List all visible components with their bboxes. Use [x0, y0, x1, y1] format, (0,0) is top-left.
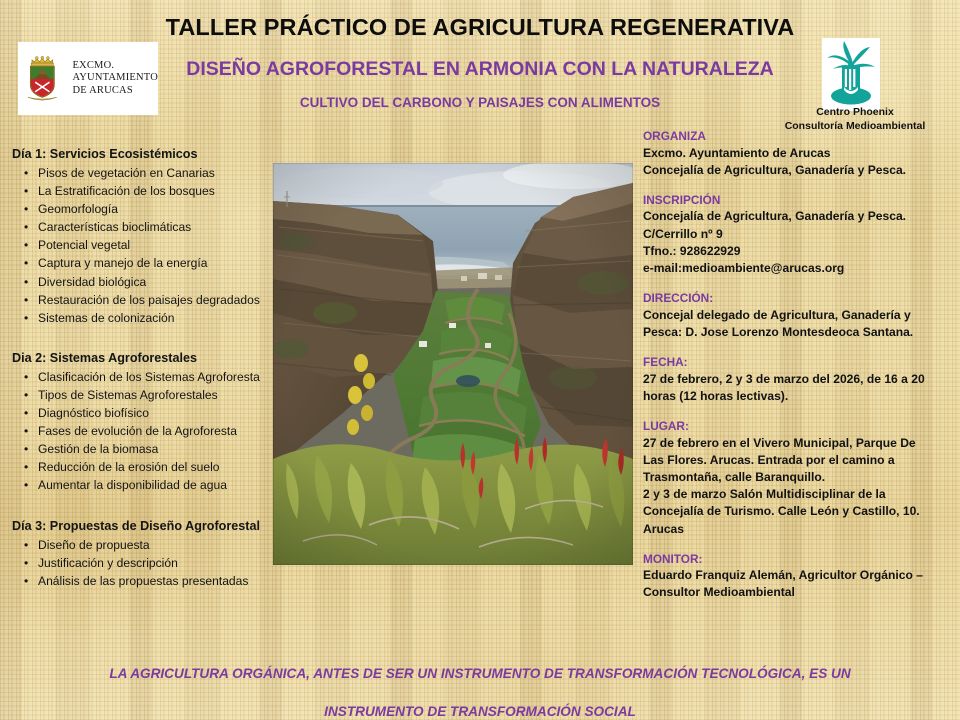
- info-line: Concejalía de Agricultura, Ganadería y P…: [643, 208, 955, 225]
- coat-of-arms-icon: [24, 48, 65, 110]
- topic-label: Justificación y descripción: [38, 556, 178, 570]
- topic-label: Características bioclimáticas: [38, 220, 191, 234]
- slogan-line-1: LA AGRICULTURA ORGÁNICA, ANTES DE SER UN…: [0, 655, 960, 693]
- info-line: Concejalía de Turismo. Calle León y Cast…: [643, 503, 955, 520]
- day-2-heading: Dia 2: Sistemas Agroforestales: [12, 350, 290, 366]
- barranco-photo-illustration: [273, 163, 633, 565]
- syllabus-day-3: Día 3: Propuestas de Diseño Agroforestal…: [12, 518, 290, 590]
- info-line: Concejal delegado de Agricultura, Ganade…: [643, 307, 955, 324]
- day-3-heading: Día 3: Propuestas de Diseño Agroforestal: [12, 518, 290, 534]
- list-item: •Sistemas de colonización: [12, 309, 290, 327]
- slogan-line-2: INSTRUMENTO DE TRANSFORMACIÓN SOCIAL: [0, 693, 960, 720]
- bullet-icon: •: [24, 404, 28, 422]
- topic-label: Gestión de la biomasa: [38, 442, 158, 456]
- topic-label: Sistemas de colonización: [38, 311, 174, 325]
- info-line: Consultor Medioambiental: [643, 584, 955, 601]
- info-label: DIRECCIÓN:: [643, 290, 955, 307]
- topic-label: Restauración de los paisajes degradados: [38, 293, 260, 307]
- crest-logo-text: EXCMO. AYUNTAMIENTO DE ARUCAS: [72, 60, 158, 97]
- topic-label: Análisis de las propuestas presentadas: [38, 574, 248, 588]
- bullet-icon: •: [24, 273, 28, 291]
- info-label: FECHA:: [643, 354, 955, 371]
- list-item: •Fases de evolución de la Agroforesta: [12, 422, 290, 440]
- syllabus-gap: [12, 495, 290, 518]
- bullet-icon: •: [24, 422, 28, 440]
- info-section-organiza: ORGANIZA Excmo. Ayuntamiento de Arucas C…: [643, 128, 955, 179]
- info-line: 27 de febrero, 2 y 3 de marzo del 2026, …: [643, 371, 955, 388]
- info-label: LUGAR:: [643, 418, 955, 435]
- bullet-icon: •: [24, 536, 28, 554]
- bullet-icon: •: [24, 254, 28, 272]
- info-line: Trasmontaña, calle Baranquillo.: [643, 469, 955, 486]
- syllabus-column: Día 1: Servicios Ecosistémicos •Pisos de…: [12, 146, 290, 590]
- bullet-icon: •: [24, 291, 28, 309]
- list-item: •Análisis de las propuestas presentadas: [12, 572, 290, 590]
- list-item: •Clasificación de los Sistemas Agrofores…: [12, 368, 290, 386]
- bullet-icon: •: [24, 200, 28, 218]
- topic-label: Potencial vegetal: [38, 238, 130, 252]
- info-line: Pesca: D. Jose Lorenzo Montesdeoca Santa…: [643, 324, 955, 341]
- topic-label: Pisos de vegetación en Canarias: [38, 166, 215, 180]
- topic-label: Tipos de Sistemas Agroforestales: [38, 388, 218, 402]
- bullet-icon: •: [24, 164, 28, 182]
- info-email[interactable]: e-mail:medioambiente@arucas.org: [643, 260, 955, 277]
- list-item: •Diagnóstico biofísico: [12, 404, 290, 422]
- info-section-lugar: LUGAR: 27 de febrero en el Vivero Munici…: [643, 418, 955, 538]
- info-label: INSCRIPCIÓN: [643, 192, 955, 209]
- bullet-icon: •: [24, 182, 28, 200]
- info-label: ORGANIZA: [643, 128, 955, 145]
- topic-label: Diseño de propuesta: [38, 538, 150, 552]
- phoenix-logo-box: [822, 38, 880, 111]
- bullet-icon: •: [24, 368, 28, 386]
- bullet-icon: •: [24, 476, 28, 494]
- topic-label: Fases de evolución de la Agroforesta: [38, 424, 237, 438]
- list-item: •Tipos de Sistemas Agroforestales: [12, 386, 290, 404]
- info-line: Arucas: [643, 521, 955, 538]
- info-line: 2 y 3 de marzo Salón Multidisciplinar de…: [643, 486, 955, 503]
- topic-label: Clasificación de los Sistemas Agroforest…: [38, 370, 260, 384]
- info-label: MONITOR:: [643, 551, 955, 568]
- info-section-monitor: MONITOR: Eduardo Franquiz Alemán, Agricu…: [643, 551, 955, 602]
- list-item: •Gestión de la biomasa: [12, 440, 290, 458]
- syllabus-day-1: Día 1: Servicios Ecosistémicos •Pisos de…: [12, 146, 290, 327]
- topic-label: Reducción de la erosión del suelo: [38, 460, 220, 474]
- info-line: Las Flores. Arucas. Entrada por el camin…: [643, 452, 955, 469]
- poster-canvas: TALLER PRÁCTICO DE AGRICULTURA REGENERAT…: [0, 0, 960, 720]
- list-item: •Diversidad biológica: [12, 273, 290, 291]
- crest-line-3: DE ARUCAS: [72, 85, 158, 97]
- info-section-direccion: DIRECCIÓN: Concejal delegado de Agricult…: [643, 290, 955, 341]
- bullet-icon: •: [24, 554, 28, 572]
- info-line: Eduardo Franquiz Alemán, Agricultor Orgá…: [643, 567, 955, 584]
- topic-label: Geomorfología: [38, 202, 118, 216]
- list-item: •Reducción de la erosión del suelo: [12, 458, 290, 476]
- poster-title-main: TALLER PRÁCTICO DE AGRICULTURA REGENERAT…: [0, 14, 960, 41]
- topic-label: Diagnóstico biofísico: [38, 406, 149, 420]
- day-2-topic-list: •Clasificación de los Sistemas Agrofores…: [12, 368, 290, 495]
- bullet-icon: •: [24, 309, 28, 327]
- bullet-icon: •: [24, 572, 28, 590]
- info-line: Concejalía de Agricultura, Ganadería y P…: [643, 162, 955, 179]
- topic-label: La Estratificación de los bosques: [38, 184, 215, 198]
- topic-label: Aumentar la disponibilidad de agua: [38, 478, 227, 492]
- info-line: Excmo. Ayuntamiento de Arucas: [643, 145, 955, 162]
- info-column: ORGANIZA Excmo. Ayuntamiento de Arucas C…: [643, 128, 955, 615]
- palm-tree-icon: [822, 38, 880, 111]
- info-section-fecha: FECHA: 27 de febrero, 2 y 3 de marzo del…: [643, 354, 955, 405]
- day-1-topic-list: •Pisos de vegetación en Canarias •La Est…: [12, 164, 290, 327]
- list-item: •Pisos de vegetación en Canarias: [12, 164, 290, 182]
- syllabus-day-2: Dia 2: Sistemas Agroforestales •Clasific…: [12, 350, 290, 495]
- bullet-icon: •: [24, 218, 28, 236]
- info-line: horas (12 horas lectivas).: [643, 388, 955, 405]
- barranco-photo: [273, 163, 633, 565]
- info-line: 27 de febrero en el Vivero Municipal, Pa…: [643, 435, 955, 452]
- bullet-icon: •: [24, 458, 28, 476]
- list-item: •Características bioclimáticas: [12, 218, 290, 236]
- list-item: •Geomorfología: [12, 200, 290, 218]
- list-item: •Restauración de los paisajes degradados: [12, 291, 290, 309]
- bullet-icon: •: [24, 386, 28, 404]
- topic-label: Captura y manejo de la energía: [38, 256, 207, 270]
- list-item: •Aumentar la disponibilidad de agua: [12, 476, 290, 494]
- list-item: •Justificación y descripción: [12, 554, 290, 572]
- list-item: •Captura y manejo de la energía: [12, 254, 290, 272]
- bullet-icon: •: [24, 236, 28, 254]
- phoenix-caption-line-1: Centro Phoenix: [760, 105, 950, 119]
- crest-line-1: EXCMO.: [72, 60, 158, 72]
- info-phone: Tfno.: 928622929: [643, 243, 955, 260]
- info-section-inscripcion: INSCRIPCIÓN Concejalía de Agricultura, G…: [643, 192, 955, 277]
- day-3-topic-list: •Diseño de propuesta •Justificación y de…: [12, 536, 290, 590]
- topic-label: Diversidad biológica: [38, 275, 146, 289]
- list-item: •Potencial vegetal: [12, 236, 290, 254]
- arucas-crest-logo: EXCMO. AYUNTAMIENTO DE ARUCAS: [18, 42, 158, 115]
- day-1-heading: Día 1: Servicios Ecosistémicos: [12, 146, 290, 162]
- poster-slogan: LA AGRICULTURA ORGÁNICA, ANTES DE SER UN…: [0, 655, 960, 720]
- crest-line-2: AYUNTAMIENTO: [72, 72, 158, 84]
- list-item: •Diseño de propuesta: [12, 536, 290, 554]
- syllabus-gap: [12, 327, 290, 350]
- list-item: •La Estratificación de los bosques: [12, 182, 290, 200]
- info-line: C/Cerrillo nº 9: [643, 226, 955, 243]
- bullet-icon: •: [24, 440, 28, 458]
